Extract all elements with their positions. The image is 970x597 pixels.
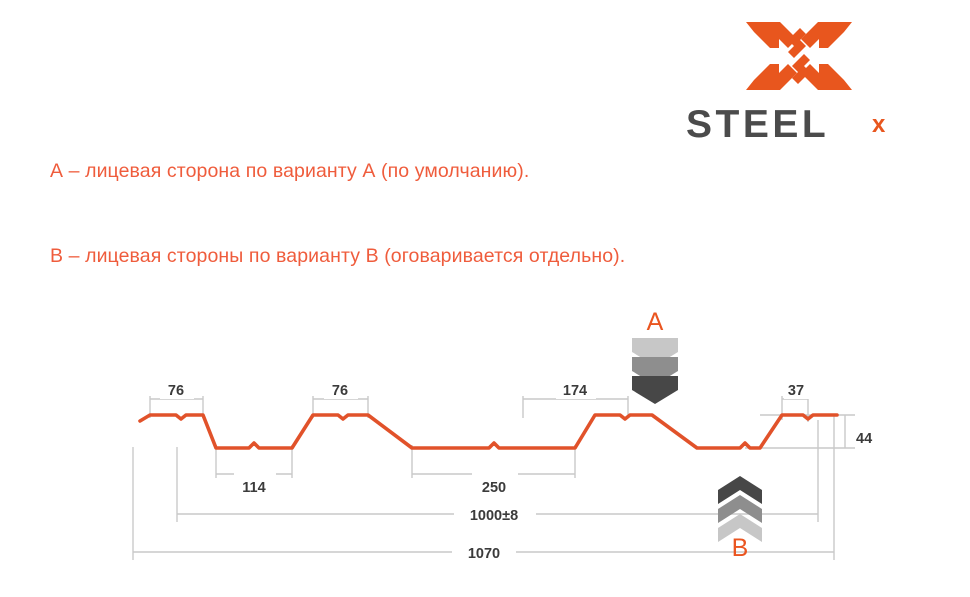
- dimension-label-76-left: 76: [168, 383, 184, 399]
- marker-b-label: B: [732, 534, 749, 562]
- dimension-label-114: 114: [242, 480, 265, 496]
- dimension-label-1070: 1070: [468, 546, 500, 562]
- dimension-label-76-mid: 76: [332, 383, 348, 399]
- dimension-label-174: 174: [563, 383, 587, 399]
- profile-technical-drawing: 76 76 174 37 114 250 1000±8 1070 44 A B: [0, 0, 970, 597]
- sheet-profile-path: [140, 415, 837, 448]
- dimension-label-37: 37: [788, 383, 804, 399]
- marker-a-label: A: [647, 308, 664, 336]
- dimension-label-backdrops: [160, 381, 876, 562]
- marker-b: B: [718, 476, 762, 562]
- marker-a: A: [632, 308, 678, 404]
- dimension-label-44: 44: [856, 431, 872, 447]
- marker-a-chevron-3: [632, 376, 678, 404]
- dimension-label-1000: 1000±8: [470, 508, 518, 524]
- drawing-page: STEEL x А – лицевая сторона по варианту …: [0, 0, 970, 597]
- dimension-label-250: 250: [482, 480, 506, 496]
